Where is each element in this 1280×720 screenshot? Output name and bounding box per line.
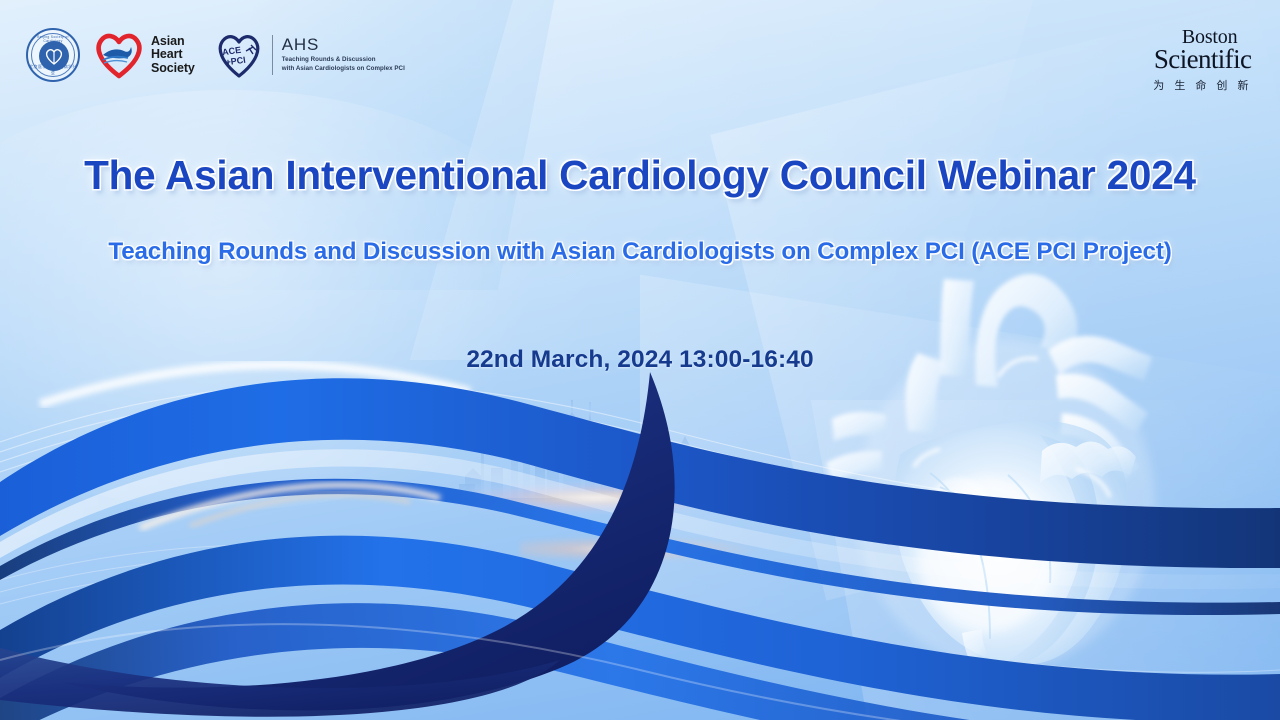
- horizon-glow-secondary: [520, 536, 760, 562]
- background-facet-d: [640, 275, 1280, 716]
- seal-ring-text-bottom: 北京医学会心血管病学分会: [28, 64, 78, 76]
- boston-scientific-chinese-tagline: 为 生 命 创 新: [1153, 77, 1252, 93]
- wave-ribbons: [0, 330, 1280, 720]
- webinar-poster: Beijing Society of Cardiology 北京医学会心血管病学…: [0, 0, 1280, 720]
- ahs-tagline: Teaching Rounds & Discussion with Asian …: [282, 56, 405, 74]
- logo-divider: [272, 35, 273, 75]
- ahs-acronym: AHS: [282, 36, 405, 55]
- event-datetime: 22nd March, 2024 13:00-16:40: [100, 346, 1180, 374]
- city-skyline-icon: [455, 380, 755, 505]
- asian-heart-society-label: Asian Heart Society: [151, 35, 195, 75]
- page-subtitle: Teaching Rounds and Discussion with Asia…: [0, 238, 1280, 266]
- ace-pci-ahs-logo: ACE +PCI AHS Teaching Rounds & Discussio…: [215, 31, 405, 79]
- ahs-line-1: Asian: [151, 35, 195, 48]
- asian-heart-society-logo: Asian Heart Society: [94, 31, 195, 79]
- horizon-glow: [470, 480, 770, 516]
- ahs-line-3: Society: [151, 62, 195, 75]
- anatomical-heart-illustration: [790, 255, 1220, 675]
- page-title: The Asian Interventional Cardiology Coun…: [0, 152, 1280, 199]
- red-heart-wave-icon: [94, 31, 144, 79]
- ahs-tagline-line-1: Teaching Rounds & Discussion: [282, 56, 405, 65]
- partner-logos-left: Beijing Society of Cardiology 北京医学会心血管病学…: [26, 28, 405, 82]
- boston-scientific-logo: Boston Scientific 为 生 命 创 新: [1153, 28, 1252, 93]
- boston-scientific-line-2: Scientific: [1153, 47, 1252, 73]
- ahs-line-2: Heart: [151, 48, 195, 61]
- pci-text: +PCI: [225, 55, 246, 68]
- ace-pci-heart-icon: ACE +PCI: [215, 31, 263, 79]
- ahs-text-block: AHS Teaching Rounds & Discussion with As…: [282, 36, 405, 75]
- chinese-society-of-cardiology-seal-icon: Beijing Society of Cardiology 北京医学会心血管病学…: [26, 28, 80, 82]
- logo-bar: Beijing Society of Cardiology 北京医学会心血管病学…: [0, 0, 1280, 110]
- background-facet-f: [811, 400, 1280, 720]
- ahs-tagline-line-2: with Asian Cardiologists on Complex PCI: [282, 65, 405, 74]
